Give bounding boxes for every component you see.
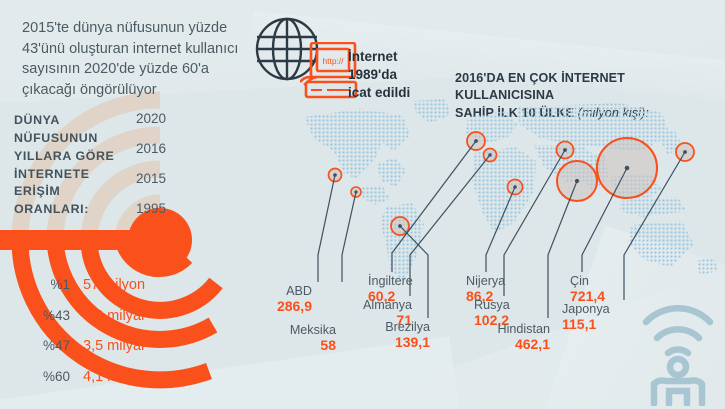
leader-line-meksika: [342, 192, 356, 282]
wifi-person-icon: [636, 288, 720, 406]
country-name: İngiltere: [368, 274, 413, 288]
country-name: Rusya: [474, 298, 510, 312]
country-value: 139,1: [340, 334, 430, 351]
country-name: Çin: [570, 274, 605, 288]
country-label-cin: Çin 721,4: [570, 274, 605, 305]
country-name: Meksika: [236, 323, 336, 337]
leader-line-abd: [318, 175, 335, 282]
leader-line-nijerya: [486, 187, 515, 272]
country-label-abd: ABD 286,9: [238, 284, 312, 315]
country-value: 115,1: [562, 316, 610, 333]
country-value: 286,9: [238, 298, 312, 315]
country-label-hindistan: Hindistan 462,1: [458, 322, 550, 353]
country-name: Almanya: [330, 298, 412, 312]
country-value: 58: [236, 337, 336, 354]
country-label-japonya: Japonya 115,1: [562, 302, 610, 333]
leader-line-ingiltere: [392, 141, 476, 272]
country-name: Japonya: [562, 302, 610, 316]
country-label-brezilya: Brezilya 139,1: [340, 320, 430, 351]
leader-line-japonya: [624, 152, 685, 300]
country-label-meksika: Meksika 58: [236, 323, 336, 354]
country-name: ABD: [238, 284, 312, 298]
country-name: Nijerya: [466, 274, 505, 288]
country-name: Brezilya: [340, 320, 430, 334]
infographic-canvas: 2015'te dünya nüfusunun yüzde 43'ünü olu…: [0, 0, 725, 409]
leader-line-rusya: [504, 150, 565, 296]
leader-line-cin: [582, 168, 627, 272]
country-name: Hindistan: [458, 322, 550, 336]
country-value: 462,1: [458, 336, 550, 353]
